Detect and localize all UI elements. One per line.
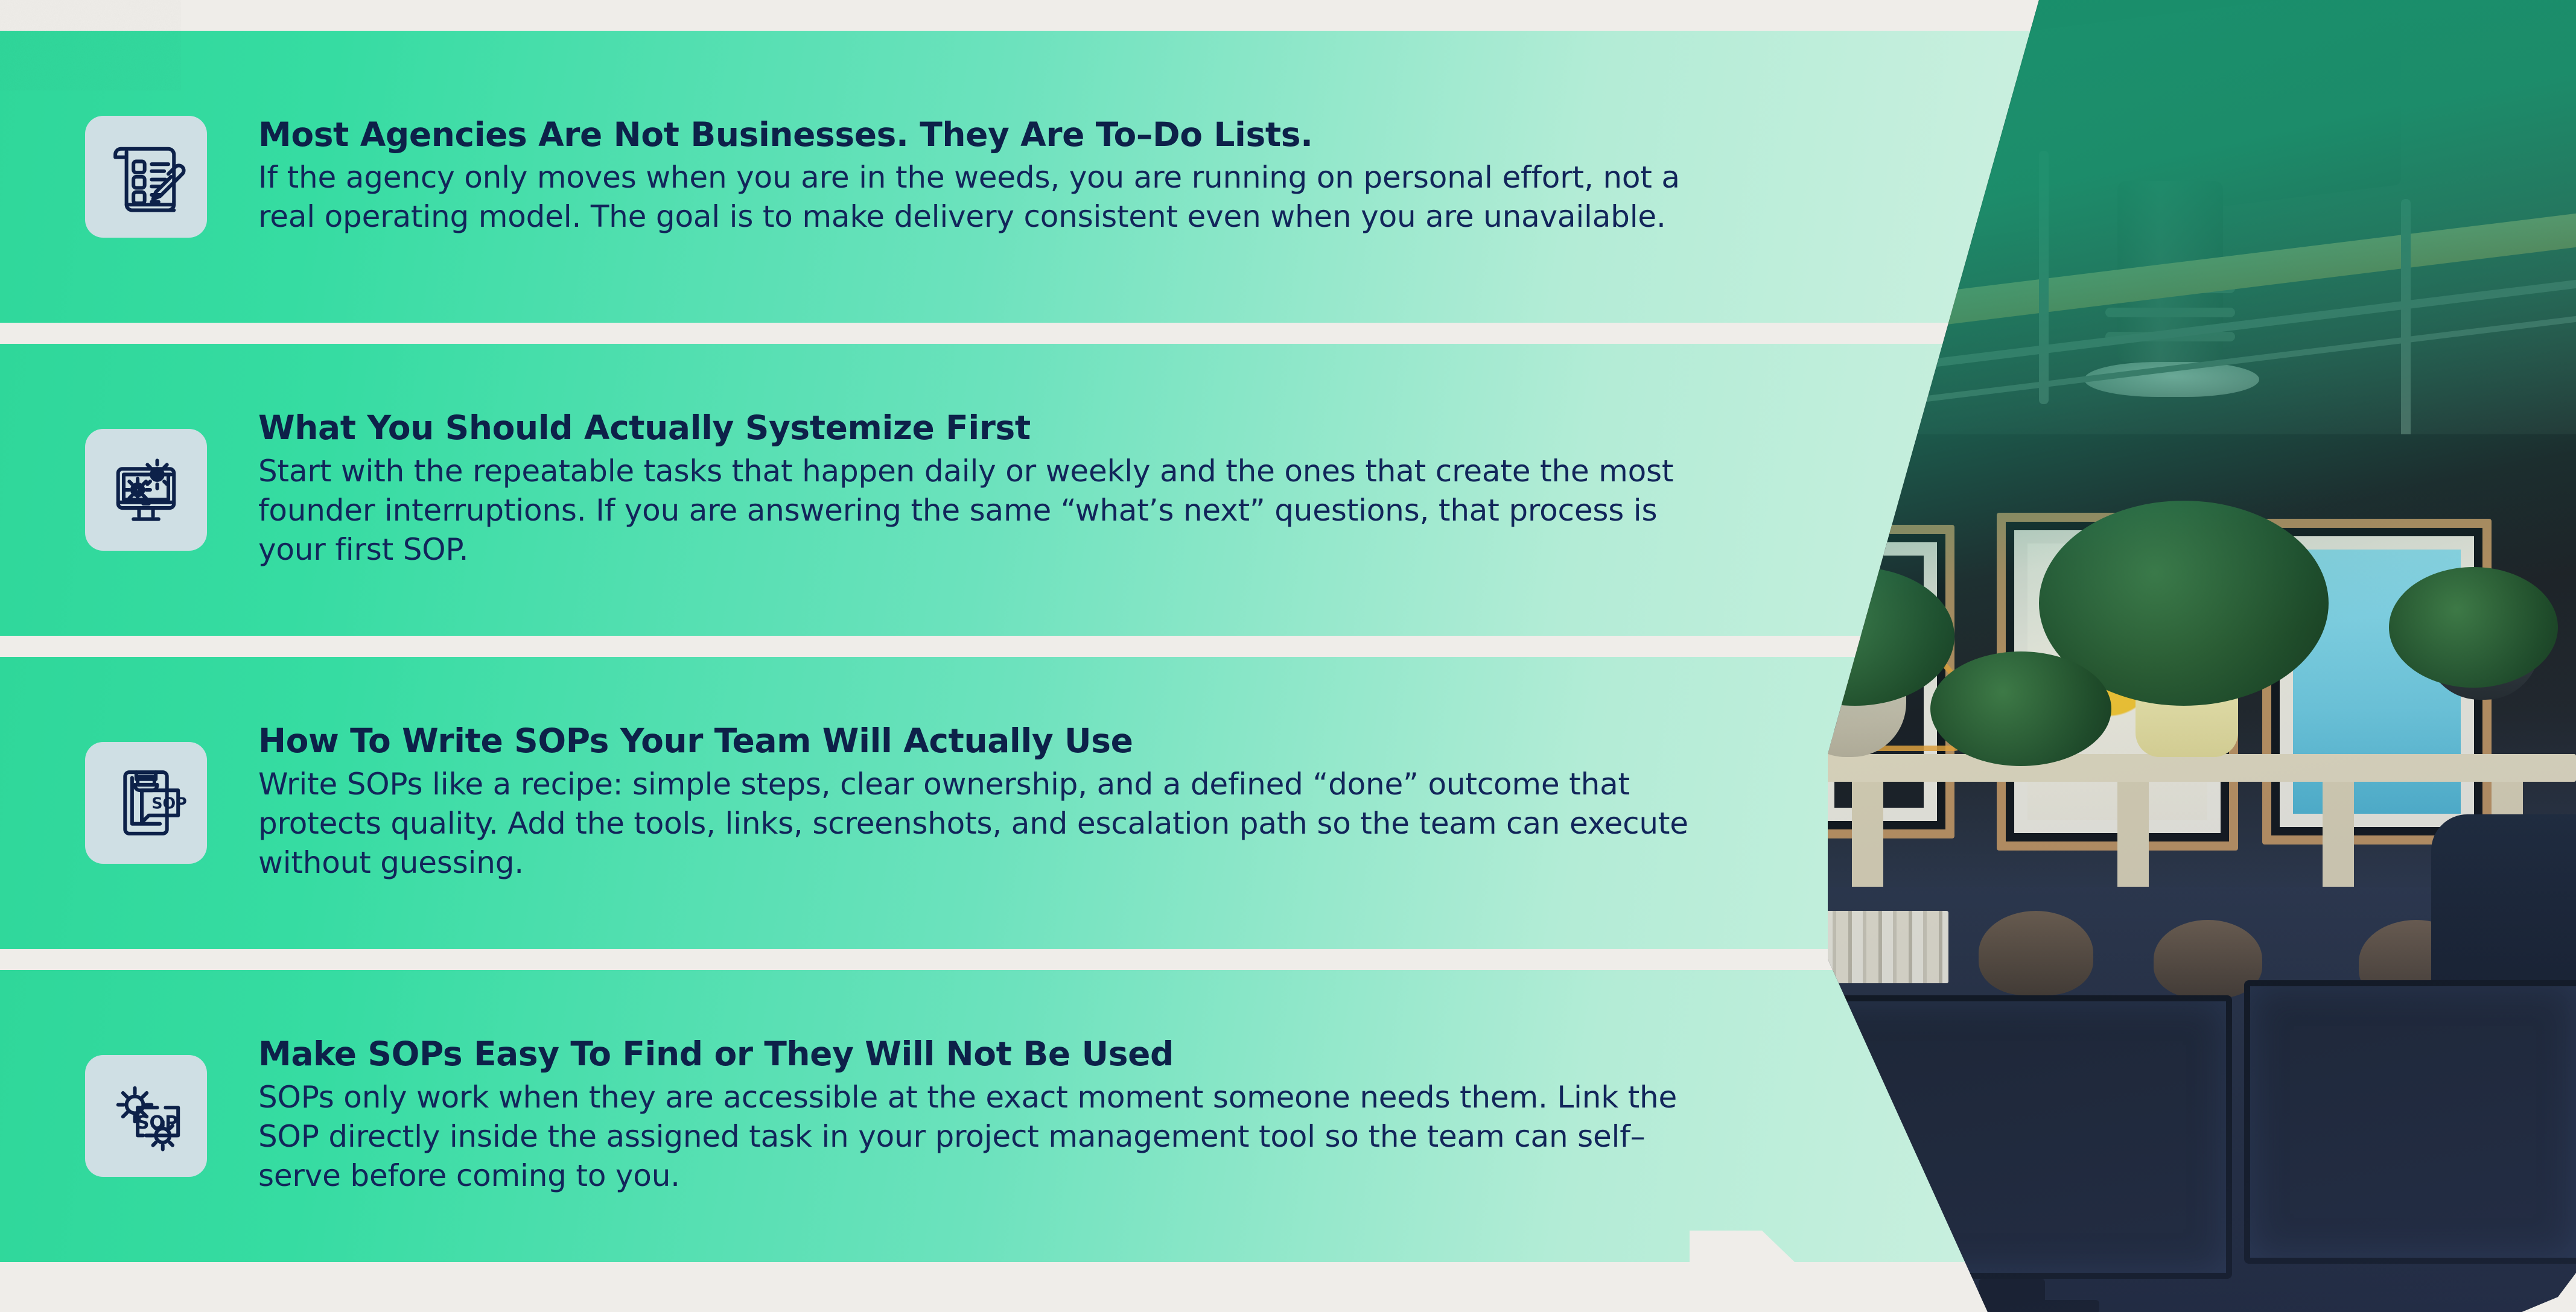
card-title: How To Write SOPs Your Team Will Actuall… xyxy=(258,723,1846,758)
card-body: SOPs only work when they are accessible … xyxy=(258,1078,1719,1196)
tip-card-2: What You Should Actually Systemize First… xyxy=(0,344,2064,636)
card-copy: What You Should Actually Systemize First… xyxy=(258,410,2064,569)
tip-card-3: SOP How To Write SOPs Your Team Will Act… xyxy=(0,657,2064,949)
monitor-gears-icon xyxy=(85,429,207,551)
card-body: If the agency only moves when you are in… xyxy=(258,158,1719,236)
card-title: What You Should Actually Systemize First xyxy=(258,410,1846,445)
card-title: Most Agencies Are Not Businesses. They A… xyxy=(258,117,1846,152)
gears-sop-icon: SOP xyxy=(85,1055,207,1177)
card-copy: How To Write SOPs Your Team Will Actuall… xyxy=(258,723,2064,882)
card-body: Start with the repeatable tasks that hap… xyxy=(258,452,1719,569)
tip-card-4: SOP Make SOPs Easy To Find or They Will … xyxy=(0,970,2064,1262)
sop-label: SOP xyxy=(151,794,187,812)
card-body: Write SOPs like a recipe: simple steps, … xyxy=(258,765,1719,883)
card-copy: Make SOPs Easy To Find or They Will Not … xyxy=(258,1036,2064,1195)
sop-label: SOP xyxy=(136,1112,178,1133)
card-copy: Most Agencies Are Not Businesses. They A… xyxy=(258,117,2064,236)
card-title: Make SOPs Easy To Find or They Will Not … xyxy=(258,1036,1846,1071)
clipboard-sop-bubble-icon: SOP xyxy=(85,742,207,864)
tip-card-1: Most Agencies Are Not Businesses. They A… xyxy=(0,31,2064,323)
infographic-stage: Most Agencies Are Not Businesses. They A… xyxy=(0,0,2576,1312)
checklist-scroll-pencil-icon xyxy=(85,116,207,238)
